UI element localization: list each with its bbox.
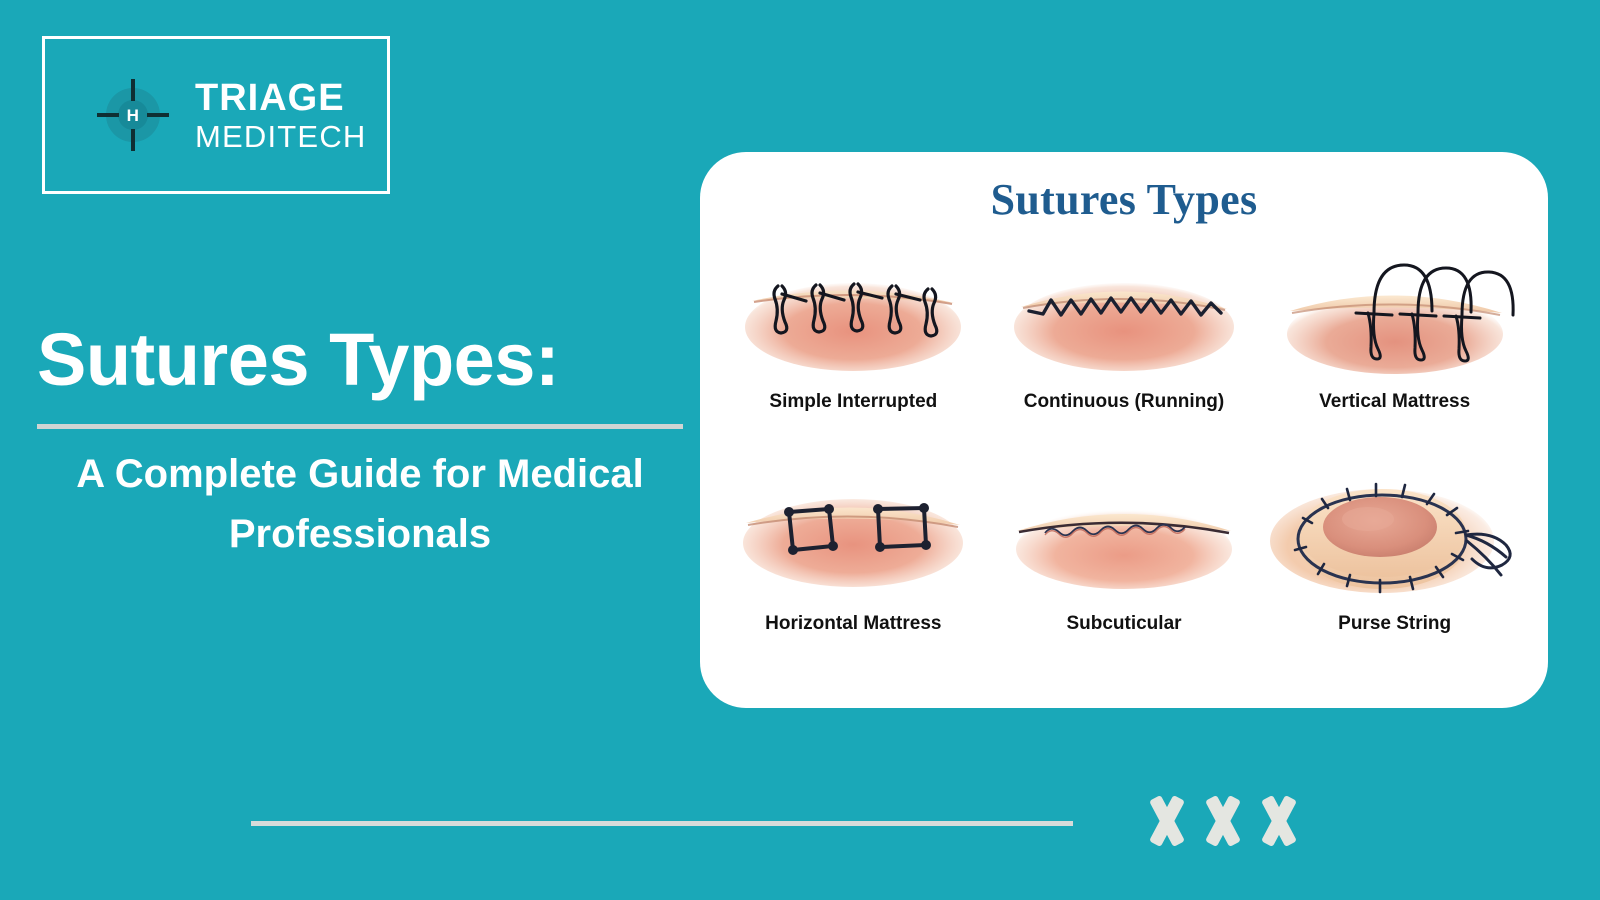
logo-letter: H <box>127 107 140 124</box>
sutures-grid: Simple Interrupted <box>700 225 1548 705</box>
suture-label: Continuous (Running) <box>1024 391 1225 413</box>
brand-logo-box: H TRIAGE MEDITECH <box>42 36 390 194</box>
page-subtitle: A Complete Guide for Medical Professiona… <box>37 445 683 563</box>
suture-item-vertical-mattress: Vertical Mattress <box>1259 239 1530 461</box>
crosshair-tick-left <box>97 113 119 117</box>
crosshair-tick-top <box>131 79 135 101</box>
suture-label: Vertical Mattress <box>1319 391 1470 413</box>
purse-string-illustration <box>1270 461 1520 611</box>
suture-item-purse-string: Purse String <box>1259 461 1530 683</box>
brand-name-primary: TRIAGE <box>195 79 367 117</box>
continuous-running-illustration <box>999 239 1249 389</box>
horizontal-mattress-illustration <box>728 461 978 611</box>
subcuticular-illustration <box>999 461 1249 611</box>
sutures-card: Sutures Types <box>700 152 1548 708</box>
crosshair-target-icon: H <box>97 79 169 151</box>
stitch-mark-row <box>1148 799 1298 843</box>
suture-item-continuous-running: Continuous (Running) <box>989 239 1260 461</box>
headline-block: Sutures Types: A Complete Guide for Medi… <box>37 322 683 564</box>
crosshair-core: H <box>118 100 148 130</box>
suture-item-horizontal-mattress: Horizontal Mattress <box>718 461 989 683</box>
brand-logo-inner: H TRIAGE MEDITECH <box>45 39 387 191</box>
footer-divider <box>251 821 1073 826</box>
suture-item-simple-interrupted: Simple Interrupted <box>718 239 989 461</box>
crosshair-tick-right <box>147 113 169 117</box>
title-divider <box>37 424 683 429</box>
x-stitch-mark-icon <box>1204 799 1242 843</box>
card-title: Sutures Types <box>700 152 1548 225</box>
crosshair-tick-bottom <box>131 129 135 151</box>
simple-interrupted-illustration <box>728 239 978 389</box>
poster-canvas: H TRIAGE MEDITECH Sutures Types: A Compl… <box>0 0 1600 900</box>
suture-label: Purse String <box>1338 613 1451 635</box>
brand-wordmark: TRIAGE MEDITECH <box>195 79 367 152</box>
page-title: Sutures Types: <box>37 322 683 397</box>
x-stitch-mark-icon <box>1260 799 1298 843</box>
vertical-mattress-illustration <box>1270 239 1520 389</box>
suture-label: Subcuticular <box>1066 613 1181 635</box>
suture-label: Horizontal Mattress <box>765 613 941 635</box>
x-stitch-mark-icon <box>1148 799 1186 843</box>
suture-label: Simple Interrupted <box>769 391 937 413</box>
brand-name-secondary: MEDITECH <box>195 121 367 152</box>
suture-item-subcuticular: Subcuticular <box>989 461 1260 683</box>
